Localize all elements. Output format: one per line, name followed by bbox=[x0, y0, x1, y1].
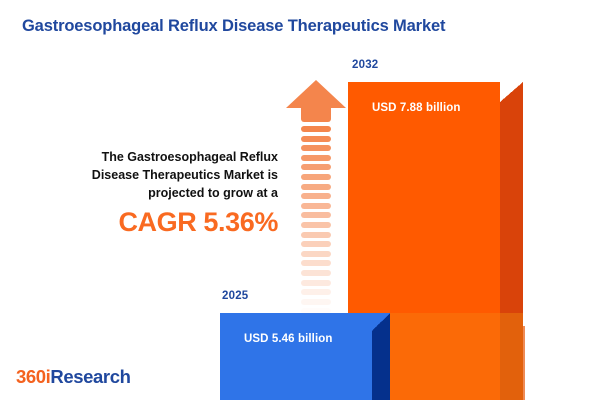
arrow-stripe bbox=[301, 164, 331, 170]
arrow-stripe bbox=[301, 241, 331, 247]
year-label-2025: 2025 bbox=[222, 290, 248, 302]
callout-line-3: projected to grow at a bbox=[20, 184, 278, 202]
arrow-stripe bbox=[301, 299, 331, 305]
callout-line-1: The Gastroesophageal Reflux bbox=[20, 148, 278, 166]
arrow-stripe bbox=[301, 126, 331, 132]
bar-2025: USD 5.46 billion bbox=[220, 313, 390, 400]
logo-part-360: 360 bbox=[16, 366, 46, 387]
arrow-stripe bbox=[301, 328, 331, 334]
arrow-stripe bbox=[301, 222, 331, 228]
bar-2032-bevel bbox=[500, 82, 523, 102]
brand-logo[interactable]: 360iResearch bbox=[16, 366, 131, 388]
bar-2032-value-label: USD 7.88 billion bbox=[372, 102, 461, 114]
arrow-stripe bbox=[301, 280, 331, 286]
arrow-stripe bbox=[301, 289, 331, 295]
cagr-callout: The Gastroesophageal Reflux Disease Ther… bbox=[20, 148, 278, 238]
year-label-2032: 2032 bbox=[352, 59, 378, 71]
arrow-stripe bbox=[301, 318, 331, 324]
arrow-stripe bbox=[301, 174, 331, 180]
bar-2025-value-label: USD 5.46 billion bbox=[244, 333, 333, 345]
arrow-neck-shape bbox=[301, 108, 331, 122]
bar-2025-front-face bbox=[220, 313, 372, 400]
arrow-stripe bbox=[301, 136, 331, 142]
arrow-stripe bbox=[301, 212, 331, 218]
cagr-value: CAGR 5.36% bbox=[20, 208, 278, 238]
growth-arrow-icon bbox=[286, 80, 346, 302]
arrow-head-shape bbox=[286, 80, 346, 108]
arrow-stripe bbox=[301, 232, 331, 238]
right-edge-accent-line bbox=[523, 326, 525, 400]
arrow-stripe bbox=[301, 270, 331, 276]
infographic-canvas: Gastroesophageal Reflux Disease Therapeu… bbox=[0, 0, 600, 400]
arrow-stripe bbox=[301, 193, 331, 199]
bar-2032-side-lower bbox=[500, 313, 523, 400]
arrow-stripe bbox=[301, 155, 331, 161]
arrow-stripe bbox=[301, 145, 331, 151]
bar-2025-side-face bbox=[372, 331, 390, 400]
logo-part-research: Research bbox=[50, 366, 130, 387]
arrow-stripe bbox=[301, 260, 331, 266]
bar-2025-bevel bbox=[372, 313, 390, 331]
arrow-stripe bbox=[301, 184, 331, 190]
arrow-stripe bbox=[301, 251, 331, 257]
arrow-stripe bbox=[301, 308, 331, 314]
arrow-stripe bbox=[301, 203, 331, 209]
callout-line-2: Disease Therapeutics Market is bbox=[20, 166, 278, 184]
page-title: Gastroesophageal Reflux Disease Therapeu… bbox=[22, 16, 582, 37]
